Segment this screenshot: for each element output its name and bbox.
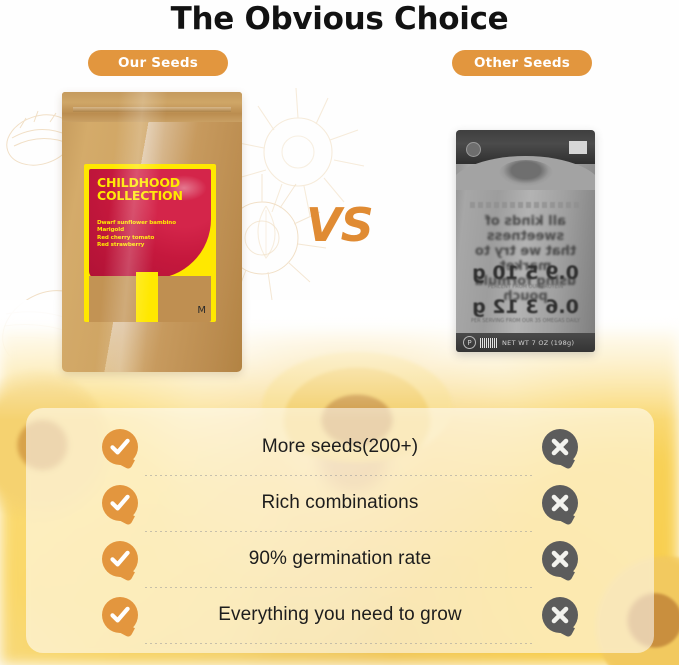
check-icon [102, 485, 138, 521]
our-seed-packet: CHILDHOOD COLLECTION Dwarf sunflower bam… [62, 92, 242, 372]
pouch-brand-logo [499, 160, 553, 186]
packet-variety-list: Dwarf sunflower bambino Marigold Red che… [97, 220, 205, 250]
other-seed-pouch: all kinds of sweetness that we try to ma… [456, 130, 595, 352]
variety-item: Marigold [97, 227, 205, 234]
feature-label: More seeds(200+) [146, 420, 534, 474]
feature-label: 90% germination rate [146, 532, 534, 586]
label-yellow-stem [136, 272, 158, 322]
check-icon [102, 597, 138, 633]
sunflower-lineart-background [226, 86, 416, 286]
row-divider [145, 643, 535, 644]
comparison-row: More seeds(200+) [26, 420, 654, 474]
packet-label-title: CHILDHOOD COLLECTION [97, 176, 205, 202]
barcode-icon [480, 338, 498, 348]
feature-label: Everything you need to grow [146, 588, 534, 642]
column-label-other-seeds: Other Seeds [452, 50, 592, 76]
pouch-headline-line1: all kinds of sweetness [466, 214, 585, 244]
packet-label-title-line2: COLLECTION [97, 189, 205, 202]
pouch-organic-seal-icon [466, 142, 481, 157]
check-icon [102, 541, 138, 577]
pouch-nutrition-box-icon [569, 141, 587, 154]
cross-icon [542, 429, 578, 465]
comparison-row: Rich combinations [26, 476, 654, 530]
comparison-infographic: The Obvious Choice Our Seeds Other Seeds… [0, 0, 679, 665]
pouch-bottom-band: P NET WT 7 OZ (198g) [456, 333, 595, 352]
pouch-net-weight: NET WT 7 OZ (198g) [502, 339, 574, 347]
cross-icon [542, 485, 578, 521]
cross-icon [542, 597, 578, 633]
pouch-stat-primary: 0.9 5 10 g [466, 262, 585, 284]
pouch-stat-secondary: 0.6 3 12 g [466, 296, 585, 318]
pouch-stat-primary-caption: PERCENT FROM OUR PROTEIN [470, 284, 581, 290]
check-icon [102, 429, 138, 465]
vs-badge: VS [306, 198, 373, 252]
comparison-row: Everything you need to grow [26, 588, 654, 642]
comparison-row: 90% germination rate [26, 532, 654, 586]
pouch-stat-secondary-caption: PER SERVING FROM OUR 35 OMEGAS DAILY [470, 318, 581, 324]
feature-label: Rich combinations [146, 476, 534, 530]
label-kraft-left [89, 276, 136, 322]
pouch-tagline-strip [470, 202, 581, 208]
packet-zip-top [62, 92, 242, 122]
page-title: The Obvious Choice [0, 1, 679, 37]
comparison-panel: More seeds(200+) Rich combinations [26, 408, 654, 653]
variety-item: Red cherry tomato [97, 235, 205, 242]
variety-item: Dwarf sunflower bambino [97, 220, 205, 227]
column-label-our-seeds: Our Seeds [88, 50, 228, 76]
recycle-icon: P [463, 336, 476, 349]
cross-icon [542, 541, 578, 577]
variety-item: Red strawberry [97, 242, 205, 249]
packet-front-label: CHILDHOOD COLLECTION Dwarf sunflower bam… [84, 164, 216, 322]
packet-size-mark: M [197, 305, 206, 316]
pouch-headline: all kinds of sweetness that we try to ma… [466, 214, 585, 304]
